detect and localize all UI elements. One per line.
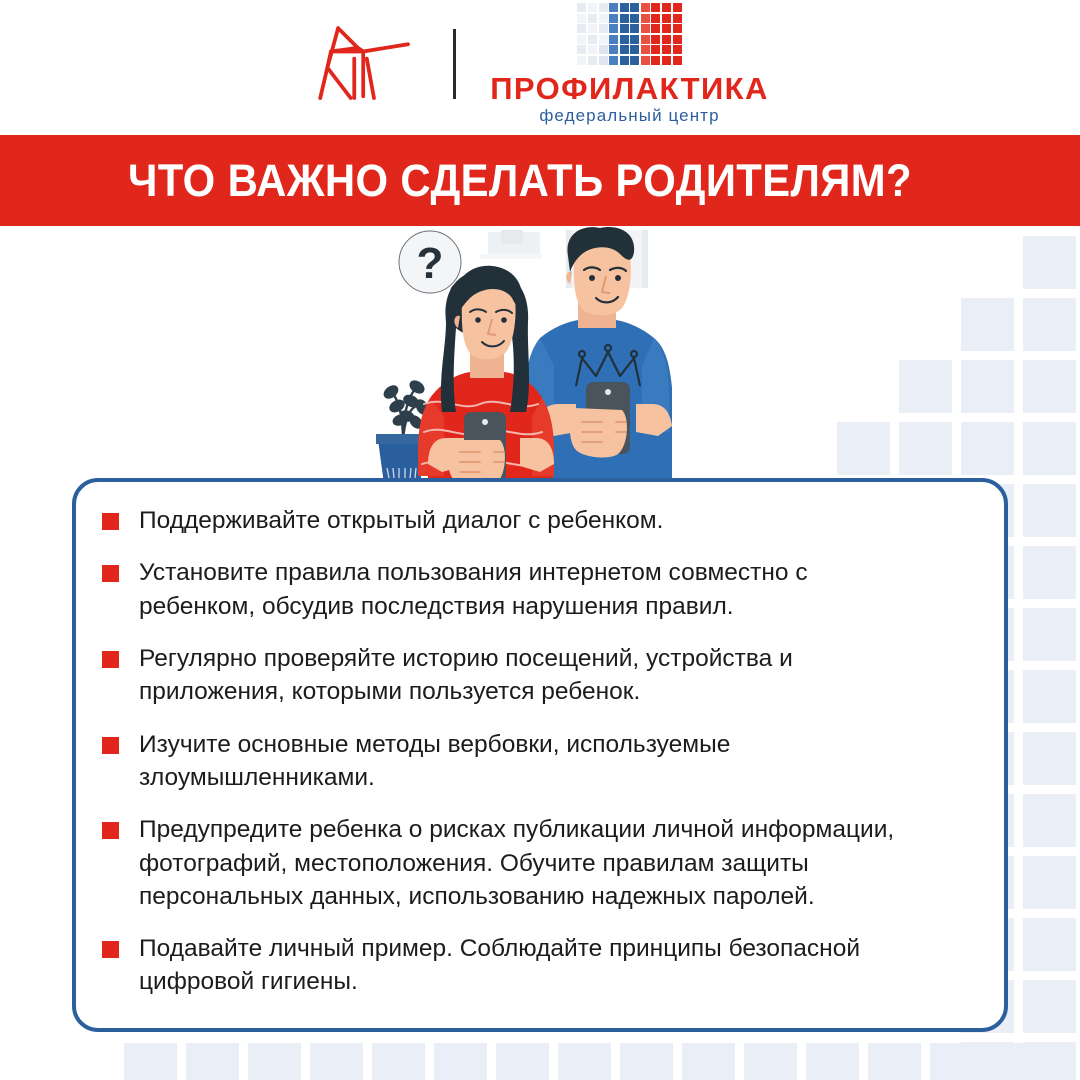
title-banner: ЧТО ВАЖНО СДЕЛАТЬ РОДИТЕЛЯМ? bbox=[0, 135, 1080, 226]
decorative-square bbox=[682, 1043, 735, 1080]
decorative-square bbox=[620, 1043, 673, 1080]
logo-pixel bbox=[577, 24, 586, 33]
logo-pixel bbox=[588, 45, 597, 54]
logo-pixel bbox=[577, 56, 586, 65]
logo-pixel bbox=[662, 35, 671, 44]
logo-pixel bbox=[630, 24, 639, 33]
decorative-square bbox=[1023, 670, 1076, 723]
decorative-square bbox=[1023, 546, 1076, 599]
logo-pixel bbox=[651, 24, 660, 33]
logo-pixel bbox=[641, 24, 650, 33]
decorative-square bbox=[1023, 794, 1076, 847]
logo-pixel bbox=[630, 3, 639, 12]
bullet-marker-icon bbox=[102, 513, 119, 530]
logo-pixel bbox=[630, 35, 639, 44]
decorative-square bbox=[558, 1043, 611, 1080]
recommendations-card: Поддерживайте открытый диалог с ребенком… bbox=[72, 478, 1008, 1032]
logo-pixel bbox=[609, 14, 618, 23]
decorative-square bbox=[1023, 732, 1076, 785]
decorative-square bbox=[1023, 856, 1076, 909]
parents-with-phones-illustration: ? bbox=[370, 226, 700, 506]
logo-pixel bbox=[641, 3, 650, 12]
decorative-square bbox=[1023, 608, 1076, 661]
logo-pixel bbox=[609, 45, 618, 54]
logo-pixel bbox=[599, 14, 608, 23]
bullet-text: Регулярно проверяйте историю посещений, … bbox=[139, 642, 929, 709]
bullet-item: Предупредите ребенка о рисках публикации… bbox=[102, 813, 980, 913]
decorative-square bbox=[837, 422, 890, 475]
logo-pixel bbox=[673, 35, 682, 44]
decorative-square bbox=[310, 1043, 363, 1080]
logo-pixel bbox=[673, 56, 682, 65]
chair-logo-icon bbox=[311, 21, 419, 107]
logo-pixel bbox=[588, 56, 597, 65]
logo-pixel bbox=[673, 24, 682, 33]
logo-pixel bbox=[588, 35, 597, 44]
decorative-square bbox=[961, 360, 1014, 413]
pixel-grid-logo-icon bbox=[577, 3, 681, 65]
vertical-divider bbox=[453, 29, 456, 99]
bullet-text: Изучите основные методы вербовки, исполь… bbox=[139, 728, 929, 795]
logo-pixel bbox=[620, 45, 629, 54]
logo-pixel bbox=[651, 35, 660, 44]
logo-pixel bbox=[609, 35, 618, 44]
logo-pixel bbox=[651, 45, 660, 54]
logo-pixel bbox=[630, 56, 639, 65]
decorative-square bbox=[1023, 298, 1076, 351]
bullet-text: Установите правила пользования интернето… bbox=[139, 556, 929, 623]
logo-pixel bbox=[620, 3, 629, 12]
decorative-square bbox=[961, 298, 1014, 351]
logo-pixel bbox=[641, 14, 650, 23]
logo-pixel bbox=[673, 3, 682, 12]
bullet-item: Установите правила пользования интернето… bbox=[102, 556, 980, 623]
logo-pixel bbox=[577, 14, 586, 23]
bullet-item: Поддерживайте открытый диалог с ребенком… bbox=[102, 504, 980, 537]
logo-pixel bbox=[577, 45, 586, 54]
bullet-marker-icon bbox=[102, 941, 119, 958]
logo-pixel bbox=[599, 24, 608, 33]
decorative-square bbox=[124, 1043, 177, 1080]
logo-pixel bbox=[599, 35, 608, 44]
logo-pixel bbox=[577, 3, 586, 12]
logo-pixel bbox=[599, 45, 608, 54]
decorative-square bbox=[868, 1043, 921, 1080]
logo-pixel bbox=[641, 45, 650, 54]
logo-pixel bbox=[588, 3, 597, 12]
decorative-square bbox=[186, 1043, 239, 1080]
bullet-marker-icon bbox=[102, 565, 119, 582]
logo-pixel bbox=[609, 24, 618, 33]
infographic-poster: ПРОФИЛАКТИКА федеральный центр ЧТО ВАЖНО… bbox=[0, 0, 1080, 1080]
logo-pixel bbox=[630, 45, 639, 54]
logo-pixel bbox=[620, 35, 629, 44]
bullet-item: Изучите основные методы вербовки, исполь… bbox=[102, 728, 980, 795]
logo-pixel bbox=[577, 35, 586, 44]
bullet-marker-icon bbox=[102, 651, 119, 668]
logo-pixel bbox=[620, 24, 629, 33]
logo-pixel bbox=[620, 14, 629, 23]
logo-pixel bbox=[673, 45, 682, 54]
logo-pixel bbox=[673, 14, 682, 23]
bullet-marker-icon bbox=[102, 822, 119, 839]
decorative-square bbox=[961, 422, 1014, 475]
decorative-square bbox=[1023, 918, 1076, 971]
logo-pixel bbox=[651, 56, 660, 65]
logo-pixel bbox=[641, 35, 650, 44]
bullet-item: Подавайте личный пример. Соблюдайте прин… bbox=[102, 932, 980, 999]
logo-pixel bbox=[662, 14, 671, 23]
decorative-square bbox=[1023, 484, 1076, 537]
logo-pixel bbox=[651, 3, 660, 12]
brand-name: ПРОФИЛАКТИКА bbox=[490, 73, 769, 104]
decorative-square bbox=[496, 1043, 549, 1080]
decorative-square bbox=[1023, 422, 1076, 475]
bullet-text: Поддерживайте открытый диалог с ребенком… bbox=[139, 504, 663, 537]
logo-pixel bbox=[630, 14, 639, 23]
header-logo-bar: ПРОФИЛАКТИКА федеральный центр bbox=[0, 0, 1080, 135]
logo-pixel bbox=[599, 3, 608, 12]
brand-subtitle: федеральный центр bbox=[539, 107, 719, 124]
bullet-list: Поддерживайте открытый диалог с ребенком… bbox=[102, 504, 980, 999]
logo-pixel bbox=[662, 24, 671, 33]
decorative-square bbox=[899, 360, 952, 413]
decorative-square bbox=[806, 1043, 859, 1080]
decorative-square bbox=[1023, 360, 1076, 413]
logo-pixel bbox=[588, 24, 597, 33]
logo-pixel bbox=[620, 56, 629, 65]
bullet-text: Подавайте личный пример. Соблюдайте прин… bbox=[139, 932, 929, 999]
decorative-square bbox=[1023, 980, 1076, 1033]
bullet-item: Регулярно проверяйте историю посещений, … bbox=[102, 642, 980, 709]
logo-pixel bbox=[588, 14, 597, 23]
decorative-square bbox=[372, 1043, 425, 1080]
logo-pixel bbox=[651, 14, 660, 23]
page-title: ЧТО ВАЖНО СДЕЛАТЬ РОДИТЕЛЯМ? bbox=[128, 155, 912, 207]
logo-pixel bbox=[662, 56, 671, 65]
bullet-text: Предупредите ребенка о рисках публикации… bbox=[139, 813, 929, 913]
logo-pixel bbox=[609, 3, 618, 12]
logo-pixel bbox=[609, 56, 618, 65]
logo-pixel bbox=[662, 3, 671, 12]
decorative-square bbox=[248, 1043, 301, 1080]
decorative-square bbox=[744, 1043, 797, 1080]
logo-pixel bbox=[641, 56, 650, 65]
decorative-square bbox=[434, 1043, 487, 1080]
logo-pixel bbox=[599, 56, 608, 65]
thought-bubble-icon: ? bbox=[399, 231, 461, 295]
svg-text:?: ? bbox=[417, 239, 444, 288]
decorative-square bbox=[899, 422, 952, 475]
decorative-square bbox=[961, 1043, 1014, 1080]
bullet-marker-icon bbox=[102, 737, 119, 754]
logo-pixel bbox=[662, 45, 671, 54]
decorative-square bbox=[1023, 236, 1076, 289]
